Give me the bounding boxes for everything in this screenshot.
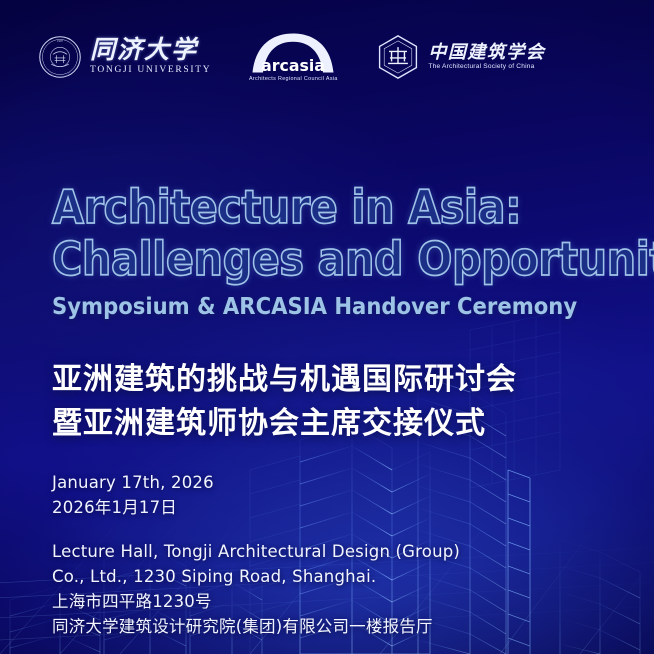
event-poster: 1907 同济大学 TONGJI UNIVERSITY arcasia Arch…	[0, 0, 654, 654]
venue-cn-line-2: 同济大学建筑设计研究院(集团)有限公司一楼报告厅	[52, 614, 460, 639]
tongji-university-logo: 1907 同济大学 TONGJI UNIVERSITY	[38, 35, 211, 79]
tongji-name-en: TONGJI UNIVERSITY	[90, 66, 211, 76]
info-spacer	[52, 520, 460, 539]
tongji-name-cn: 同济大学	[90, 38, 211, 63]
title-chinese: 亚洲建筑的挑战与机遇国际研讨会 暨亚洲建筑师协会主席交接仪式	[52, 358, 517, 447]
arcasia-wordmark: arcasia	[261, 56, 325, 74]
venue-en-line-1: Lecture Hall, Tongji Architectural Desig…	[52, 539, 460, 564]
title-line-1: Architecture in Asia:	[52, 182, 654, 234]
subtitle: Symposium & ARCASIA Handover Ceremony	[52, 294, 654, 320]
title-cn-line-2: 暨亚洲建筑师协会主席交接仪式	[52, 402, 517, 446]
asc-name-en: The Architectural Society of China	[428, 64, 545, 71]
asc-hexagon-icon	[375, 34, 421, 80]
date-en: January 17th, 2026	[52, 470, 460, 495]
title-block: Architecture in Asia: Challenges and Opp…	[52, 182, 654, 320]
title-cn-line-1: 亚洲建筑的挑战与机遇国际研讨会	[52, 358, 517, 402]
asc-name-cn: 中国建筑学会	[428, 43, 545, 61]
arcasia-tagline: Architects Regional Council Asia	[249, 76, 338, 82]
svg-text:1907: 1907	[57, 39, 64, 43]
arcasia-logo: arcasia Architects Regional Council Asia	[247, 32, 339, 82]
event-info: January 17th, 2026 2026年1月17日 Lecture Ha…	[52, 470, 460, 639]
title-line-2: Challenges and Opportunities	[52, 234, 654, 286]
venue-cn-line-1: 上海市四平路1230号	[52, 589, 460, 614]
tongji-seal-icon: 1907	[38, 35, 82, 79]
arcasia-arch-icon: arcasia	[247, 32, 339, 74]
logo-row: 1907 同济大学 TONGJI UNIVERSITY arcasia Arch…	[38, 32, 545, 82]
architectural-society-china-logo: 中国建筑学会 The Architectural Society of Chin…	[375, 34, 545, 80]
venue-en-line-2: Co., Ltd., 1230 Siping Road, Shanghai.	[52, 564, 460, 589]
date-cn: 2026年1月17日	[52, 495, 460, 520]
